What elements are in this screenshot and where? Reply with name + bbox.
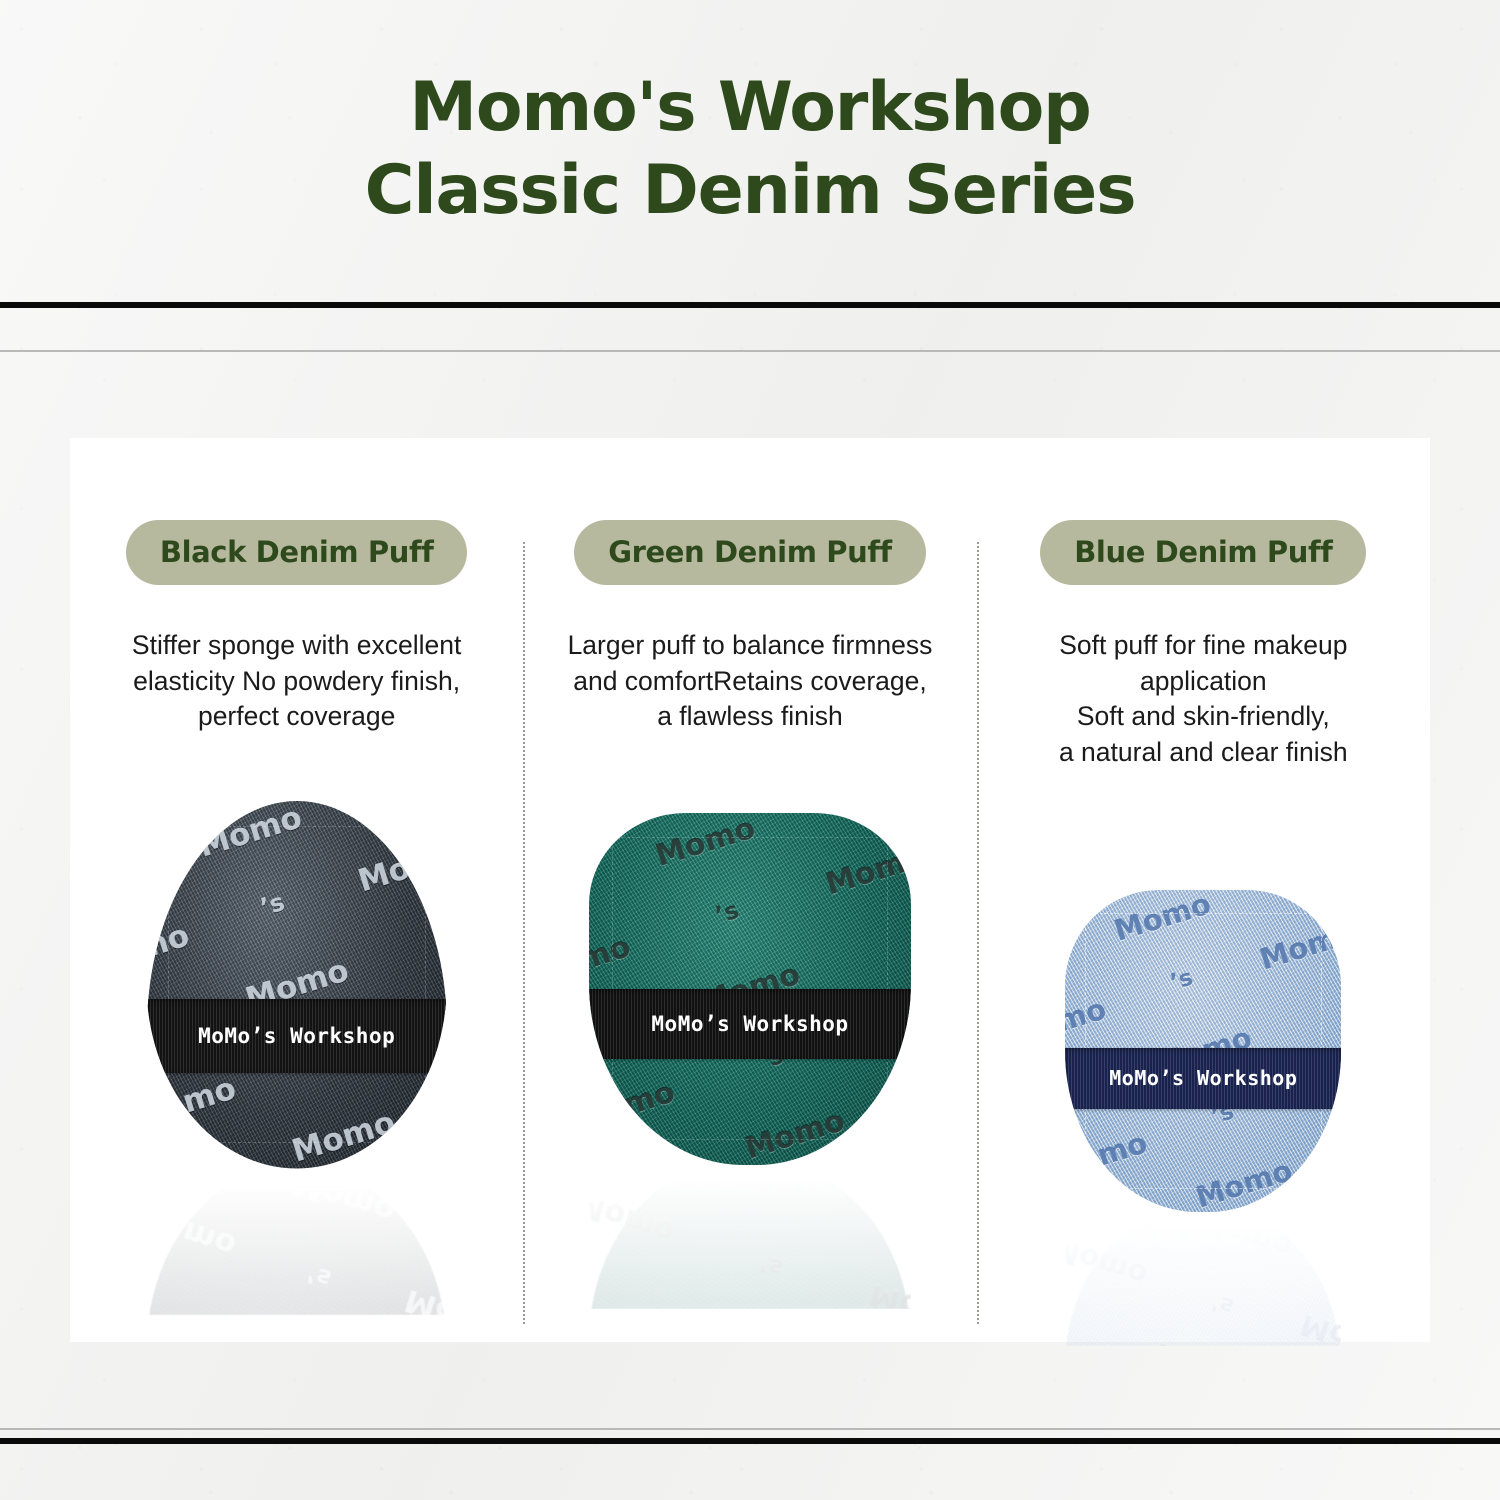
- title-line-1: Momo's Workshop: [409, 68, 1090, 147]
- description-line: a natural and clear finish: [1003, 735, 1403, 771]
- title-line-2: Classic Denim Series: [365, 150, 1136, 233]
- product-reflection-green: Momo’sMomo ’sMomo’s Momo’sMomo ’sMomo’s …: [589, 1159, 911, 1309]
- divider-top-thick: [0, 302, 1500, 308]
- divider-top-thin: [0, 350, 1500, 352]
- page-title: Momo's Workshop Classic Denim Series: [365, 67, 1136, 233]
- product-column-green: Green Denim Puff Larger puff to balance …: [523, 438, 976, 1342]
- product-column-black: Black Denim Puff Stiffer sponge with exc…: [70, 438, 523, 1342]
- description-line: Soft and skin-friendly,: [1003, 699, 1403, 735]
- brand-band-black: MoMo’s Workshop: [147, 999, 447, 1073]
- description-line: Soft puff for fine makeup: [1003, 628, 1403, 664]
- description-line: Stiffer sponge with excellent: [97, 628, 497, 664]
- product-image-stage-black: Momo’sMomo ’sMomo’s Momo’sMomo ’sMomo’s …: [70, 735, 523, 1343]
- divider-bottom-thick: [0, 1438, 1500, 1444]
- product-reflection-black: Momo’sMomo ’sMomo’s Momo’sMomo ’sMomo’s …: [147, 1165, 447, 1315]
- puff-body-black: Momo’sMomo ’sMomo’s Momo’sMomo ’sMomo’s …: [147, 801, 447, 1169]
- description-line: application: [1003, 664, 1403, 700]
- description-blue-denim-puff: Soft puff for fine makeup application So…: [1003, 628, 1403, 770]
- brand-band-blue: MoMo’s Workshop: [1065, 1048, 1341, 1109]
- badge-black-denim-puff: Black Denim Puff: [126, 520, 468, 585]
- column-divider-2: [977, 542, 979, 1324]
- header: Momo's Workshop Classic Denim Series: [0, 0, 1500, 300]
- brand-band-label: MoMo’s Workshop: [1109, 1066, 1297, 1090]
- description-black-denim-puff: Stiffer sponge with excellent elasticity…: [97, 628, 497, 735]
- description-line: Larger puff to balance firmness: [550, 628, 950, 664]
- product-image-stage-green: Momo’sMomo ’sMomo’s Momo’sMomo ’sMomo’s …: [523, 735, 976, 1343]
- brand-band-label: MoMo’s Workshop: [651, 1012, 848, 1036]
- stitch-rim-black: [168, 826, 426, 1143]
- brand-band-label: MoMo’s Workshop: [198, 1024, 395, 1048]
- description-line: a flawless finish: [550, 699, 950, 735]
- description-line: perfect coverage: [97, 699, 497, 735]
- product-image-blue-denim-puff: Momo’sMomo ’sMomo’s Momo’sMomo ’sMomo’s …: [1065, 890, 1341, 1212]
- description-line: elasticity No powdery finish,: [97, 664, 497, 700]
- product-image-stage-blue: Momo’sMomo ’sMomo’s Momo’sMomo ’sMomo’s …: [977, 770, 1430, 1342]
- product-image-black-denim-puff: Momo’sMomo ’sMomo’s Momo’sMomo ’sMomo’s …: [147, 801, 447, 1169]
- product-image-green-denim-puff: Momo’sMomo ’sMomo’s Momo’sMomo ’sMomo’s …: [589, 813, 911, 1165]
- puff-body-green: Momo’sMomo ’sMomo’s Momo’sMomo ’sMomo’s …: [589, 813, 911, 1165]
- product-comparison-card: Black Denim Puff Stiffer sponge with exc…: [70, 438, 1430, 1342]
- column-divider-1: [523, 542, 525, 1324]
- brand-band-green: MoMo’s Workshop: [589, 989, 911, 1059]
- puff-body-blue: Momo’sMomo ’sMomo’s Momo’sMomo ’sMomo’s …: [1065, 890, 1341, 1212]
- product-reflection-blue: Momo’sMomo ’sMomo’s Momo’sMomo ’sMomo’s …: [1065, 1206, 1341, 1346]
- badge-blue-denim-puff: Blue Denim Puff: [1040, 520, 1366, 585]
- brand-print-pattern-black: Momo’sMomo ’sMomo’s Momo’sMomo ’sMomo’s …: [147, 801, 447, 1169]
- product-columns: Black Denim Puff Stiffer sponge with exc…: [70, 438, 1430, 1342]
- badge-green-denim-puff: Green Denim Puff: [574, 520, 926, 585]
- description-green-denim-puff: Larger puff to balance firmness and comf…: [550, 628, 950, 735]
- divider-bottom-thin: [0, 1428, 1500, 1430]
- product-column-blue: Blue Denim Puff Soft puff for fine makeu…: [977, 438, 1430, 1342]
- description-line: and comfortRetains coverage,: [550, 664, 950, 700]
